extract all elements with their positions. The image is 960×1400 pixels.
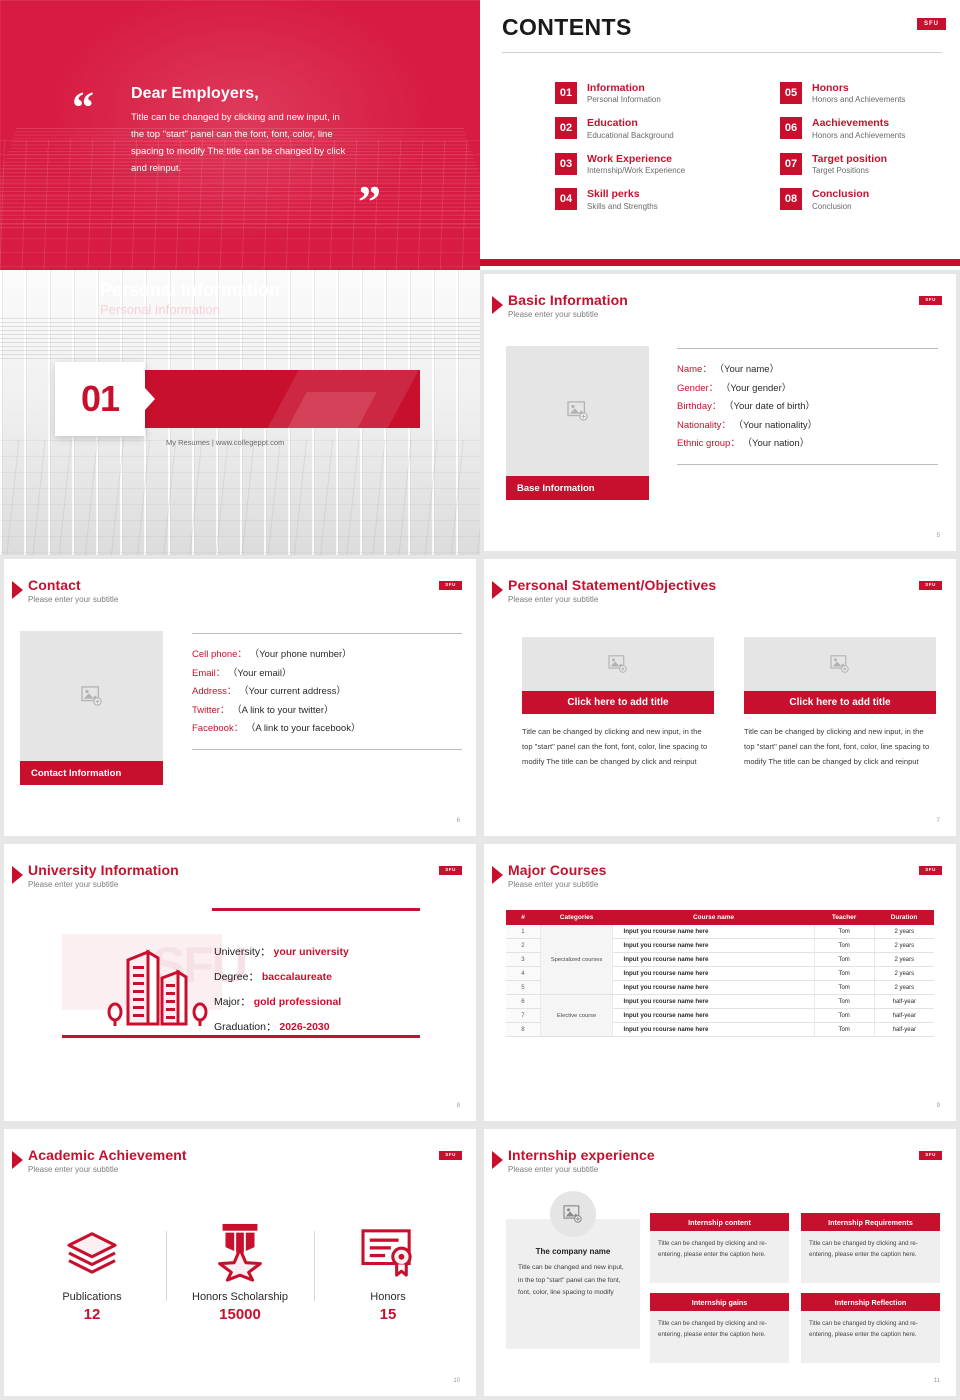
contents-number: 07 [780,153,802,175]
buildings-icon [102,930,218,1034]
stat-publications[interactable]: Publications 12 [18,1221,166,1323]
internship-card-reflection[interactable]: Internship Reflection Title can be chang… [801,1293,940,1363]
info-key: Nationality： [677,420,731,431]
image-placeholder-icon [830,655,850,673]
company-description: Title can be changed and new input, in t… [518,1262,630,1300]
page-number: 6 [457,818,460,824]
contents-subheading: Educational Background [587,131,674,141]
slide-university-information[interactable]: University Information Please enter your… [4,844,476,1121]
cell-category: Specialized courses [540,925,613,995]
info-value: （Your nation） [742,438,809,449]
contents-heading: Target position [812,153,887,165]
cell-course: Input you rcourse name here [613,953,814,967]
contents-subheading: Skills and Strengths [587,202,658,212]
detail-value: baccalaureate [262,971,332,983]
info-row: Birthday： （Your date of birth） [677,398,938,417]
contents-columns: 01 Information Personal Information 02 E… [480,82,960,224]
cell-course: Input you rcourse name here [613,981,814,995]
contents-subheading: Conclusion [812,202,869,212]
add-title-button[interactable]: Click here to add title [744,691,936,714]
slide-section-divider[interactable]: Personal Information Personal Informatio… [0,270,480,555]
statement-card[interactable]: Click here to add title Title can be cha… [522,637,714,769]
contents-subheading: Internship/Work Experience [587,166,685,176]
courses-table: # Categories Course name Teacher Duratio… [506,910,934,1037]
section-number-box: 01 [55,362,145,436]
page-subtitle: Please enter your subtitle [508,595,598,604]
cell-teacher: Tom [814,967,874,981]
contents-column-right: 05 Honors Honors and Achievements 06 Aac… [720,82,960,224]
info-row: Gender： （Your gender） [677,380,938,399]
contents-item-02[interactable]: 02 Education Educational Background [555,117,720,140]
image-placeholder[interactable] [522,637,714,691]
contents-item-04[interactable]: 04 Skill perks Skills and Strengths [555,188,720,211]
contents-item-06[interactable]: 06 Aachievements Honors and Achievements [780,117,960,140]
photo-caption: Contact Information [20,761,163,785]
detail-row: University： your university [214,940,349,965]
add-title-button[interactable]: Click here to add title [522,691,714,714]
cell-index: 6 [506,995,540,1009]
books-icon [18,1221,166,1283]
quote-close-icon: ” [358,188,379,216]
info-value: （Your current address） [239,686,346,697]
cell-course: Input you rcourse name here [613,1023,814,1037]
cell-duration: 2 years [874,925,934,939]
info-key: Ethnic group： [677,438,740,449]
info-list: Name： （Your name） Gender： （Your gender） … [677,348,938,465]
detail-key: Graduation： [214,1021,276,1033]
section-arrow-icon [145,388,155,410]
page-title: Basic Information [508,292,628,308]
column-header-course: Course name [613,910,814,925]
sfu-logo-badge: SFU [917,18,946,30]
info-key: Birthday： [677,401,721,412]
header-arrow-icon [12,866,23,884]
contents-item-08[interactable]: 08 Conclusion Conclusion [780,188,960,211]
info-value: （Your name） [714,364,779,375]
panel-top-rule [212,908,420,911]
contents-subheading: Honors and Achievements [812,95,905,105]
cell-category: Elective course [540,995,613,1037]
sfu-logo-badge: SFU [919,296,942,305]
contents-number: 05 [780,82,802,104]
sfu-logo-badge: SFU [439,1151,462,1160]
slide-contents[interactable]: CONTENTS SFU 01 Information Personal Inf… [480,0,960,270]
contents-number: 03 [555,153,577,175]
photo-caption: Base Information [506,476,649,500]
stat-value: 12 [18,1306,166,1323]
table-row: 6 Elective course Input you rcourse name… [506,995,934,1009]
table-header-row: # Categories Course name Teacher Duratio… [506,910,934,925]
info-value: （Your date of birth） [724,401,815,412]
achievement-stats: Publications 12 Honors Scholarship 15000 [18,1221,462,1323]
cell-index: 3 [506,953,540,967]
contents-subheading: Target Positions [812,166,887,176]
slide-contact[interactable]: Contact Please enter your subtitle SFU C… [4,559,476,836]
info-row: Cell phone： （Your phone number） [192,646,462,665]
header-arrow-icon [492,1151,503,1169]
slide-deck-grid: “ Dear Employers, Title can be changed b… [0,0,960,1400]
contents-column-left: 01 Information Personal Information 02 E… [480,82,720,224]
contents-heading: Education [587,117,674,129]
info-key: Gender： [677,383,718,394]
cell-duration: 2 years [874,939,934,953]
info-key: Twitter： [192,705,229,716]
info-key: Address： [192,686,236,697]
contents-number: 08 [780,188,802,210]
slide-cover[interactable]: “ Dear Employers, Title can be changed b… [0,0,480,270]
photo-placeholder[interactable] [506,346,649,476]
page-title: Major Courses [508,862,607,878]
cell-index: 2 [506,939,540,953]
info-row: Address： （Your current address） [192,683,462,702]
university-details: University： your university Degree： bacc… [214,940,349,1040]
stat-value: 15 [314,1306,462,1323]
cell-course: Input you rcourse name here [613,939,814,953]
info-value: （Your gender） [721,383,791,394]
page-subtitle: Please enter your subtitle [28,595,118,604]
page-title: Contact [28,577,81,593]
cell-teacher: Tom [814,995,874,1009]
sfu-logo-badge: SFU [919,866,942,875]
contents-heading: Aachievements [812,117,905,129]
statement-text: Title can be changed by clicking and new… [744,725,936,769]
cell-duration: half-year [874,995,934,1009]
statement-text: Title can be changed by clicking and new… [522,725,714,769]
page-subtitle: Please enter your subtitle [508,310,598,319]
page-number: 11 [934,1378,940,1384]
contents-number: 02 [555,117,577,139]
slide-internship-experience[interactable]: Internship experience Please enter your … [484,1129,956,1396]
cell-teacher: Tom [814,1009,874,1023]
page-number: 8 [457,1103,460,1109]
column-header-index: # [506,910,540,925]
detail-row: Degree： baccalaureate [214,965,349,990]
info-value: （Your email） [228,668,292,679]
card-body: Title can be changed by clicking and re-… [801,1231,940,1283]
contents-number: 04 [555,188,577,210]
info-value: （A link to your facebook） [246,723,361,734]
info-value: （A link to your twitter） [232,705,333,716]
cell-duration: half-year [874,1009,934,1023]
medal-star-icon [166,1221,314,1283]
page-title: Internship experience [508,1147,655,1163]
header-arrow-icon [492,296,503,314]
detail-value: your university [274,946,349,958]
cell-course: Input you rcourse name here [613,925,814,939]
cell-teacher: Tom [814,939,874,953]
header-arrow-icon [12,1151,23,1169]
contents-item-05[interactable]: 05 Honors Honors and Achievements [780,82,960,105]
stat-value: 15000 [166,1306,314,1323]
card-body: Title can be changed by clicking and re-… [650,1311,789,1363]
cell-duration: 2 years [874,953,934,967]
cell-teacher: Tom [814,1023,874,1037]
cell-index: 5 [506,981,540,995]
page-title: University Information [28,862,179,878]
column-header-teacher: Teacher [814,910,874,925]
page-number: 5 [937,533,940,539]
stat-label: Honors [314,1291,462,1303]
sfu-logo-badge: SFU [919,1151,942,1160]
info-row: Nationality： （Your nationality） [677,417,938,436]
stat-label: Honors Scholarship [166,1291,314,1303]
info-key: Email： [192,668,225,679]
card-heading: Internship content [650,1213,789,1231]
image-placeholder-icon [608,655,628,673]
contents-heading: Skill perks [587,188,658,200]
detail-value: gold professional [254,996,342,1008]
contents-item-01[interactable]: 01 Information Personal Information [555,82,720,105]
image-placeholder[interactable] [744,637,936,691]
contents-heading: Information [587,82,661,94]
contents-heading: Conclusion [812,188,869,200]
photo-placeholder[interactable] [20,631,163,761]
info-key: Name： [677,364,712,375]
section-title: Personal Information [100,280,280,301]
statement-card[interactable]: Click here to add title Title can be cha… [744,637,936,769]
hall-ceiling [0,318,480,360]
contents-item-07[interactable]: 07 Target position Target Positions [780,153,960,176]
contents-subheading: Personal Information [587,95,661,105]
card-heading: Internship Reflection [801,1293,940,1311]
info-value: （Your phone number） [250,649,352,660]
cell-index: 1 [506,925,540,939]
card-heading: Internship Requirements [801,1213,940,1231]
internship-card-requirements[interactable]: Internship Requirements Title can be cha… [801,1213,940,1283]
table-row: 1 Specialized courses Input you rcourse … [506,925,934,939]
section-subtitle: Personal Information [100,302,220,317]
page-subtitle: Please enter your subtitle [28,1165,118,1174]
cell-teacher: Tom [814,981,874,995]
detail-row: Major： gold professional [214,990,349,1015]
statement-cards: Click here to add title Title can be cha… [522,637,936,769]
info-row: Ethnic group： （Your nation） [677,435,938,454]
slide-basic-information[interactable]: Basic Information Please enter your subt… [484,274,956,551]
cell-index: 4 [506,967,540,981]
sfu-logo-badge: SFU [439,866,462,875]
info-row: Email： （Your email） [192,665,462,684]
info-list: Cell phone： （Your phone number） Email： （… [192,633,462,750]
cell-duration: half-year [874,1023,934,1037]
certificate-icon [314,1221,462,1283]
company-name: The company name [506,1247,640,1256]
cell-course: Input you rcourse name here [613,967,814,981]
detail-key: University： [214,946,271,958]
internship-cards: Internship content Title can be changed … [650,1213,940,1363]
page-title: CONTENTS [502,14,632,41]
title-divider [502,52,942,53]
column-header-category: Categories [540,910,613,925]
hall-floor [0,440,480,555]
detail-key: Degree： [214,971,259,983]
contents-heading: Work Experience [587,153,685,165]
card-heading: Internship gains [650,1293,789,1311]
page-title: Academic Achievement [28,1147,187,1163]
cover-title: Dear Employers, [131,85,346,103]
cell-index: 8 [506,1023,540,1037]
slide-academic-achievement[interactable]: Academic Achievement Please enter your s… [4,1129,476,1396]
contents-footer-bar [480,259,960,266]
page-title: Personal Statement/Objectives [508,577,716,593]
sfu-logo-badge: SFU [439,581,462,590]
cell-course: Input you rcourse name here [613,1009,814,1023]
image-placeholder-icon [81,686,103,706]
page-subtitle: Please enter your subtitle [508,880,598,889]
cell-teacher: Tom [814,925,874,939]
page-number: 7 [937,818,940,824]
header-arrow-icon [492,581,503,599]
cover-body-text: Title can be changed by clicking and new… [131,110,346,178]
panel-bottom-rule [62,1035,420,1038]
image-placeholder-icon [563,1205,583,1223]
page-number: 10 [453,1378,460,1384]
cover-text-block: Dear Employers, Title can be changed by … [131,85,346,178]
university-panel: SFU [62,908,420,1038]
info-row: Twitter： （A link to your twitter） [192,702,462,721]
contents-number: 01 [555,82,577,104]
detail-key: Major： [214,996,251,1008]
section-footer: My Resumes | www.collegeppt.com [166,438,284,447]
cell-teacher: Tom [814,953,874,967]
cell-index: 7 [506,1009,540,1023]
sfu-logo-badge: SFU [919,581,942,590]
info-value: （Your nationality） [734,420,818,431]
contents-number: 06 [780,117,802,139]
card-body: Title can be changed by clicking and re-… [801,1311,940,1363]
quote-open-icon: “ [72,95,92,121]
info-row: Facebook： （A link to your facebook） [192,720,462,739]
stat-honors-scholarship[interactable]: Honors Scholarship 15000 [166,1221,314,1323]
page-subtitle: Please enter your subtitle [508,1165,598,1174]
stat-label: Publications [18,1291,166,1303]
company-logo-placeholder[interactable] [550,1191,596,1237]
card-body: Title can be changed by clicking and re-… [650,1231,789,1283]
page-subtitle: Please enter your subtitle [28,880,118,889]
image-placeholder-icon [567,401,589,421]
contents-item-03[interactable]: 03 Work Experience Internship/Work Exper… [555,153,720,176]
cell-duration: 2 years [874,967,934,981]
column-header-duration: Duration [874,910,934,925]
cell-duration: 2 years [874,981,934,995]
header-arrow-icon [12,581,23,599]
stat-honors[interactable]: Honors 15 [314,1221,462,1323]
info-key: Facebook： [192,723,243,734]
page-number: 9 [937,1103,940,1109]
detail-value: 2026-2030 [279,1021,329,1033]
slide-personal-statement[interactable]: Personal Statement/Objectives Please ent… [484,559,956,836]
internship-card-content[interactable]: Internship content Title can be changed … [650,1213,789,1283]
slide-major-courses[interactable]: Major Courses Please enter your subtitle… [484,844,956,1121]
info-row: Name： （Your name） [677,361,938,380]
contents-subheading: Honors and Achievements [812,131,905,141]
section-number: 01 [81,378,119,420]
info-key: Cell phone： [192,649,247,660]
header-arrow-icon [492,866,503,884]
contents-heading: Honors [812,82,905,94]
cell-course: Input you rcourse name here [613,995,814,1009]
internship-card-gains[interactable]: Internship gains Title can be changed by… [650,1293,789,1363]
